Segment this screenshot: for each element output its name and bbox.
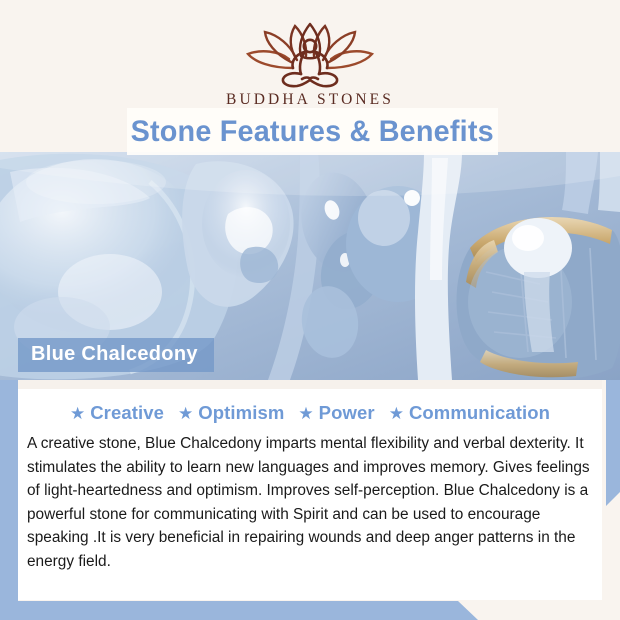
panel-divider <box>18 380 602 389</box>
brand-name: BUDDHA STONES <box>0 91 620 109</box>
star-icon: ★ <box>70 405 85 422</box>
star-icon: ★ <box>298 405 313 422</box>
keyword-label: Communication <box>409 402 550 424</box>
stone-name-text: Blue Chalcedony <box>31 343 198 365</box>
page-title: Stone Features & Benefits <box>131 115 494 149</box>
keyword-item: ★ Creative <box>70 402 164 424</box>
keyword-label: Power <box>319 402 375 424</box>
keyword-label: Optimism <box>198 402 284 424</box>
stone-description: A creative stone, Blue Chalcedony impart… <box>27 432 599 573</box>
keyword-list: ★ Creative ★ Optimism ★ Power ★ Communic… <box>18 402 602 424</box>
keyword-item: ★ Power <box>298 402 374 424</box>
keyword-item: ★ Optimism <box>178 402 284 424</box>
decor-band-bottom <box>0 601 478 620</box>
lotus-meditation-icon <box>235 18 385 90</box>
keyword-item: ★ Communication <box>389 402 550 424</box>
star-icon: ★ <box>389 405 404 422</box>
star-icon: ★ <box>178 405 193 422</box>
stone-photo: Blue Chalcedony <box>0 152 620 380</box>
keyword-label: Creative <box>90 402 164 424</box>
stone-info-card: BUDDHA STONES <box>0 0 620 620</box>
content-panel: ★ Creative ★ Optimism ★ Power ★ Communic… <box>18 380 602 600</box>
brand-logo: BUDDHA STONES <box>0 18 620 109</box>
section-title-plate: Stone Features & Benefits <box>127 108 498 155</box>
stone-name-label: Blue Chalcedony <box>18 338 214 372</box>
